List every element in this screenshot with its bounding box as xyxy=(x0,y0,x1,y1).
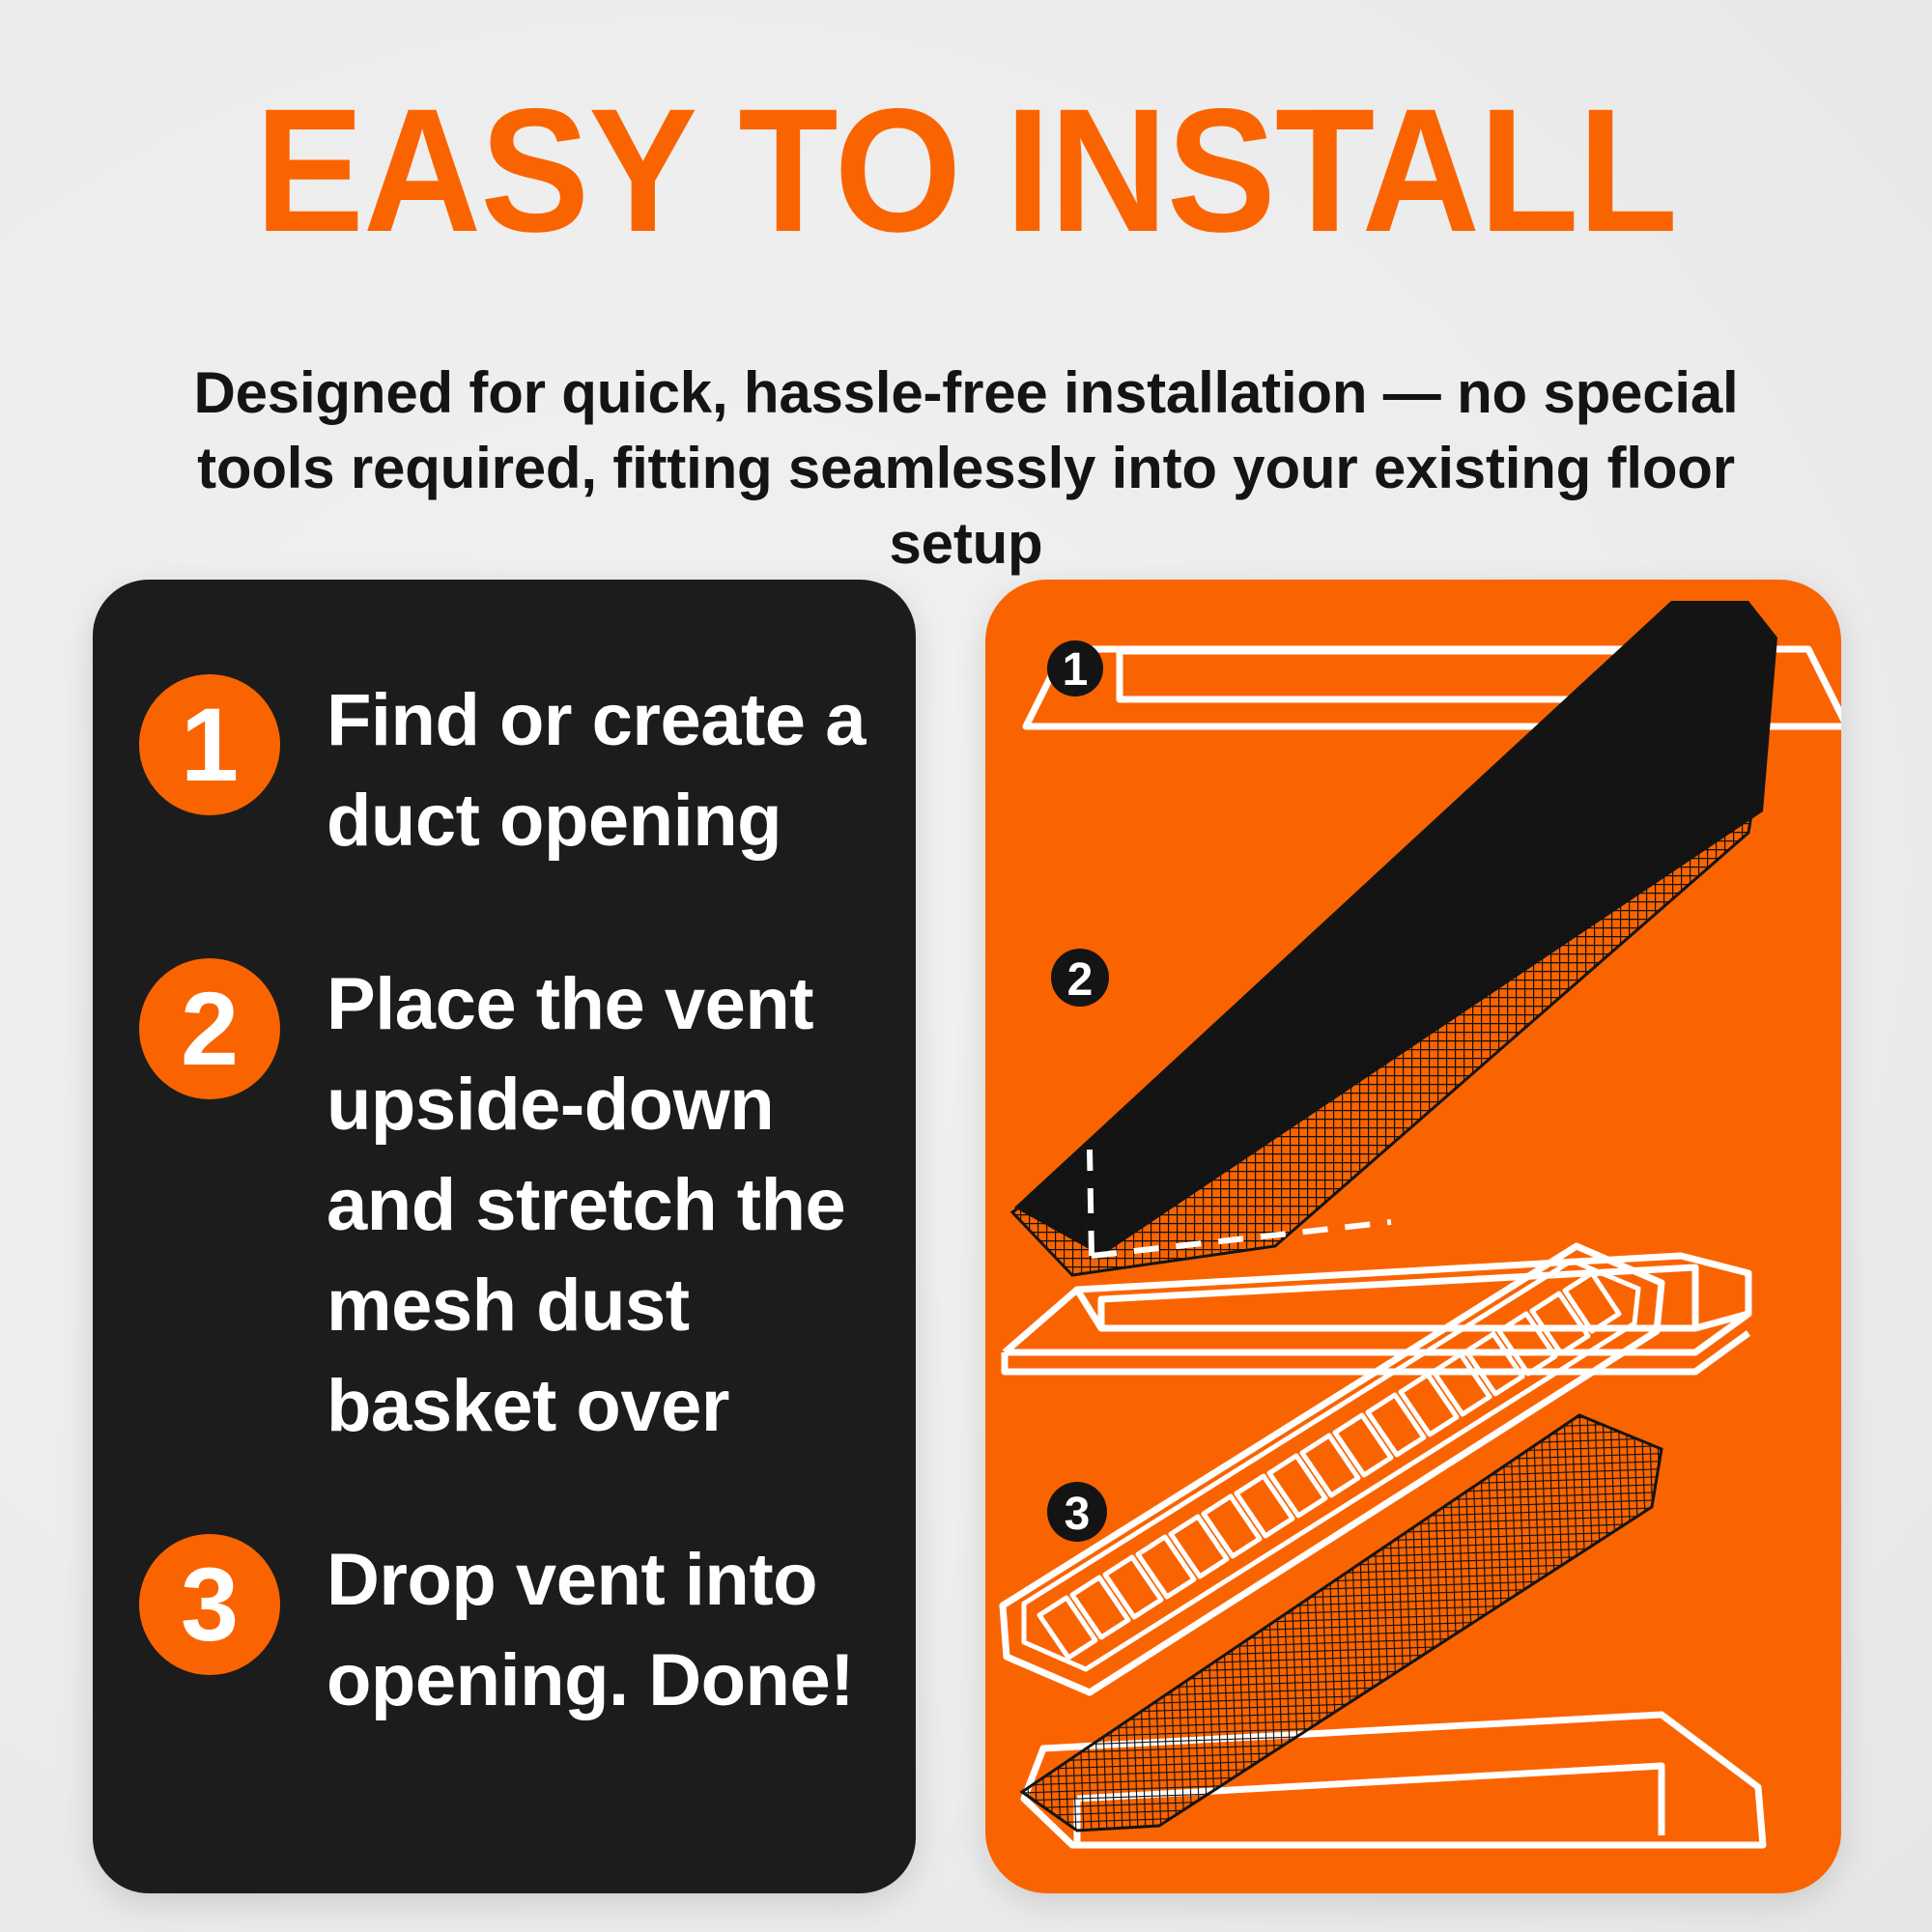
diagram-1-badge-label: 1 xyxy=(1063,644,1089,696)
steps-card: 1 Find or create a duct opening 2 Place … xyxy=(93,580,916,1893)
diagram-2-vent-with-mesh: 2 xyxy=(1005,601,1777,1372)
infographic-page: EASY TO INSTALL Designed for quick, hass… xyxy=(0,0,1932,1932)
step-item: 3 Drop vent into opening. Done! xyxy=(139,1528,875,1731)
mesh-dust-basket xyxy=(1012,726,1758,1275)
mesh-panel xyxy=(1012,726,1758,1275)
step-number-badge: 3 xyxy=(139,1534,280,1675)
diagram-3-vent-drop-in: 3 xyxy=(1003,1246,1763,1845)
installation-diagrams: 1 2 xyxy=(985,580,1841,1893)
page-subtitle: Designed for quick, hassle-free installa… xyxy=(135,355,1797,582)
diagram-3-badge-label: 3 xyxy=(1065,1489,1091,1540)
page-title: EASY TO INSTALL xyxy=(68,85,1864,255)
step-number-badge: 1 xyxy=(139,674,280,815)
step-item: 2 Place the vent upside-down and stretch… xyxy=(139,952,875,1457)
step-number-badge: 2 xyxy=(139,958,280,1099)
diagram-2-badge-label: 2 xyxy=(1067,954,1094,1006)
step-text: Place the vent upside-down and stretch t… xyxy=(327,952,875,1457)
step-text: Find or create a duct opening xyxy=(327,668,875,871)
illustration-panel: 1 2 xyxy=(985,580,1841,1893)
step-item: 1 Find or create a duct opening xyxy=(139,668,875,871)
step-text: Drop vent into opening. Done! xyxy=(327,1528,875,1731)
